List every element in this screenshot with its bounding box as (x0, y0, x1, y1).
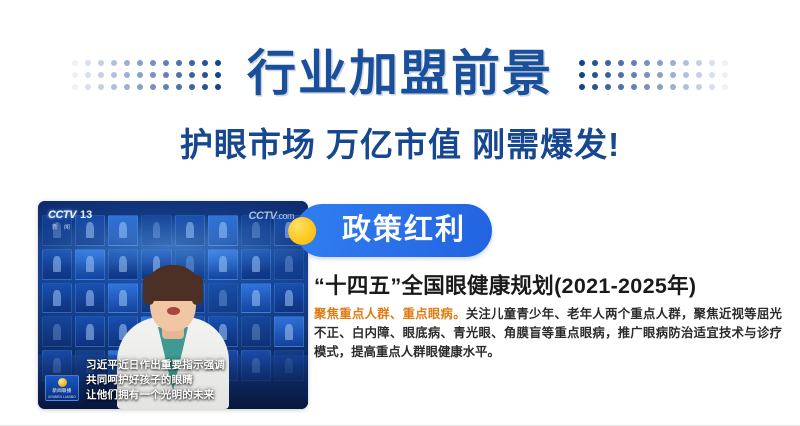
dot (696, 84, 702, 90)
dot (696, 60, 702, 66)
program-badge: 新闻联播 XINWEN LIANBO (45, 375, 79, 401)
dot (579, 84, 585, 90)
dot-grid-right (579, 58, 728, 90)
dot (605, 84, 611, 90)
monitor-tile (175, 215, 205, 246)
dot (202, 84, 208, 90)
dot (722, 60, 728, 66)
dot (709, 60, 715, 66)
cctv-logo-mark: CCTV (48, 209, 76, 221)
dot-row (579, 60, 728, 66)
monitor-tile (42, 283, 72, 314)
dot (618, 60, 624, 66)
dot (618, 72, 624, 78)
video-subtitle-line: 共同呵护好孩子的眼睛 (86, 373, 302, 388)
dot (644, 84, 650, 90)
monitor-tile (141, 215, 171, 246)
dot (98, 72, 104, 78)
dot (189, 60, 195, 66)
page-content: CCTV 13 新闻 CCTV.com 新闻联播 XINWEN LIANBO 习… (0, 185, 800, 426)
dot (98, 84, 104, 90)
dot (137, 60, 143, 66)
dot (592, 84, 598, 90)
dot (85, 60, 91, 66)
dot (189, 72, 195, 78)
dot (215, 72, 221, 78)
monitor-tile (42, 249, 72, 280)
video-subtitle-line: 习近平近日作出重要指示强调 (86, 358, 302, 373)
dot (111, 72, 117, 78)
dot (98, 60, 104, 66)
dot (85, 84, 91, 90)
dot (657, 60, 663, 66)
dot (124, 72, 130, 78)
dot (709, 84, 715, 90)
dot (670, 84, 676, 90)
policy-body-highlight: 聚焦重点人群、重点眼病。 (314, 307, 466, 321)
monitor-tile (75, 249, 105, 280)
monitor-tile (241, 249, 271, 280)
dot (72, 72, 78, 78)
dot (202, 72, 208, 78)
monitor-tile (75, 283, 105, 314)
dot (150, 72, 156, 78)
dot (631, 72, 637, 78)
dot (670, 72, 676, 78)
cctv-channel-sub: 新闻 (52, 222, 76, 231)
dot (644, 60, 650, 66)
dot (150, 84, 156, 90)
watermark-mark: CCTV (249, 210, 277, 222)
title-row: 行业加盟前景 (0, 38, 800, 110)
program-badge-title: 新闻联播 (52, 388, 71, 394)
dot (657, 84, 663, 90)
dot (72, 84, 78, 90)
dot (189, 84, 195, 90)
cctv-com-watermark: CCTV.com (249, 210, 294, 222)
cctv-news-thumbnail[interactable]: CCTV 13 新闻 CCTV.com 新闻联播 XINWEN LIANBO 习… (38, 201, 308, 409)
dot (644, 72, 650, 78)
dot (72, 60, 78, 66)
dot (124, 60, 130, 66)
dot (709, 72, 715, 78)
dot (657, 72, 663, 78)
policy-badge[interactable]: 政策红利 (296, 204, 492, 257)
dot (592, 60, 598, 66)
dot (176, 84, 182, 90)
dot (722, 72, 728, 78)
dot (137, 72, 143, 78)
monitor-tile (208, 215, 238, 246)
video-subtitle-line: 让他们拥有一个光明的未来 (86, 388, 302, 403)
cctv-channel-number: 13 (80, 209, 92, 221)
dot-grid-left (72, 58, 221, 90)
monitor-tile (241, 316, 271, 347)
dot (85, 72, 91, 78)
page-header: 行业加盟前景 护眼市场 万亿市值 刚需爆发! (0, 0, 800, 185)
dot (176, 60, 182, 66)
dot (124, 84, 130, 90)
video-subtitles: 习近平近日作出重要指示强调共同呵护好孩子的眼睛让他们拥有一个光明的未来 (86, 358, 302, 403)
badge-dot-icon (288, 217, 316, 245)
policy-panel: 政策红利 “十四五”全国眼健康规划(2021-2025年) 聚焦重点人群、重点眼… (296, 185, 800, 426)
dot (696, 72, 702, 78)
monitor-tile (75, 316, 105, 347)
anchor-hair (145, 265, 201, 301)
dot (618, 84, 624, 90)
dot (579, 72, 585, 78)
dot (722, 84, 728, 90)
dot (215, 60, 221, 66)
dot (111, 60, 117, 66)
program-badge-sub: XINWEN LIANBO (48, 395, 76, 399)
dot (137, 84, 143, 90)
cctv-channel-logo: CCTV 13 (48, 209, 92, 221)
promo-page: 行业加盟前景 护眼市场 万亿市值 刚需爆发! CCTV (0, 0, 800, 426)
dot (605, 60, 611, 66)
monitor-tile (241, 283, 271, 314)
dot-row (579, 84, 728, 90)
dot (163, 72, 169, 78)
dot (631, 60, 637, 66)
page-title: 行业加盟前景 (247, 50, 553, 99)
dot (683, 84, 689, 90)
dot-row (72, 60, 221, 66)
dot (683, 60, 689, 66)
monitor-tile (42, 316, 72, 347)
dot-row (72, 84, 221, 90)
page-subtitle: 护眼市场 万亿市值 刚需爆发! (0, 118, 800, 166)
dot (579, 60, 585, 66)
dot (202, 60, 208, 66)
dot-row (72, 72, 221, 78)
dot (631, 84, 637, 90)
dot (163, 60, 169, 66)
dot (670, 60, 676, 66)
dot (605, 72, 611, 78)
policy-badge-label: 政策红利 (342, 216, 466, 245)
dot (176, 72, 182, 78)
anchor-mouth (167, 307, 180, 315)
dot (111, 84, 117, 90)
globe-icon (58, 378, 67, 387)
dot (683, 72, 689, 78)
dot (150, 60, 156, 66)
monitor-tile (108, 215, 138, 246)
dot (163, 84, 169, 90)
dot-row (579, 72, 728, 78)
policy-body: 聚焦重点人群、重点眼病。关注儿童青少年、老年人两个重点人群，聚焦近视等屈光不正、… (314, 305, 782, 363)
dot (215, 84, 221, 90)
dot (592, 72, 598, 78)
policy-heading: “十四五”全国眼健康规划(2021-2025年) (314, 269, 696, 300)
